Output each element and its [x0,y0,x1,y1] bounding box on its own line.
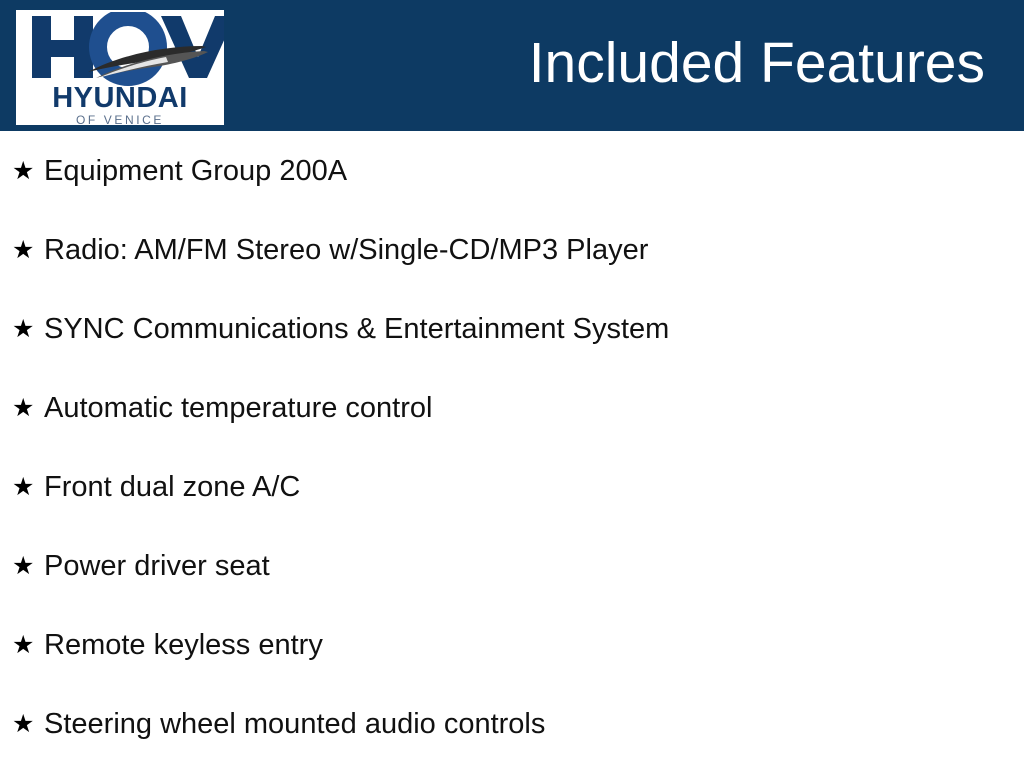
star-bullet-icon: ★ [12,316,44,341]
list-item: ★ Power driver seat [0,526,1024,605]
logo-brand-text: HYUNDAI [16,84,224,113]
feature-label: Automatic temperature control [44,391,432,425]
list-item: ★ Radio: AM/FM Stereo w/Single-CD/MP3 Pl… [0,210,1024,289]
star-bullet-icon: ★ [12,711,44,736]
feature-label: Steering wheel mounted audio controls [44,707,545,741]
star-bullet-icon: ★ [12,237,44,262]
star-bullet-icon: ★ [12,158,44,183]
list-item: ★ SYNC Communications & Entertainment Sy… [0,289,1024,368]
feature-label: Front dual zone A/C [44,470,300,504]
feature-label: Remote keyless entry [44,628,323,662]
list-item: ★ Automatic temperature control [0,368,1024,447]
dealer-logo: HYUNDAI OF VENICE [16,10,224,125]
feature-slide: Included Features HYUNDAI OF VENICE ★ Eq… [0,0,1024,768]
included-features-list: ★ Equipment Group 200A ★ Radio: AM/FM St… [0,131,1024,768]
star-bullet-icon: ★ [12,395,44,420]
page-title: Included Features [529,27,985,99]
hov-logo-icon [16,12,224,86]
logo-tagline-text: OF VENICE [16,114,224,125]
list-item: ★ Equipment Group 200A [0,131,1024,210]
star-bullet-icon: ★ [12,474,44,499]
list-item: ★ Remote keyless entry [0,605,1024,684]
star-bullet-icon: ★ [12,553,44,578]
feature-label: Power driver seat [44,549,270,583]
star-bullet-icon: ★ [12,632,44,657]
feature-label: Radio: AM/FM Stereo w/Single-CD/MP3 Play… [44,233,648,267]
feature-label: SYNC Communications & Entertainment Syst… [44,312,669,346]
feature-label: Equipment Group 200A [44,154,347,188]
list-item: ★ Front dual zone A/C [0,447,1024,526]
list-item: ★ Steering wheel mounted audio controls [0,684,1024,763]
